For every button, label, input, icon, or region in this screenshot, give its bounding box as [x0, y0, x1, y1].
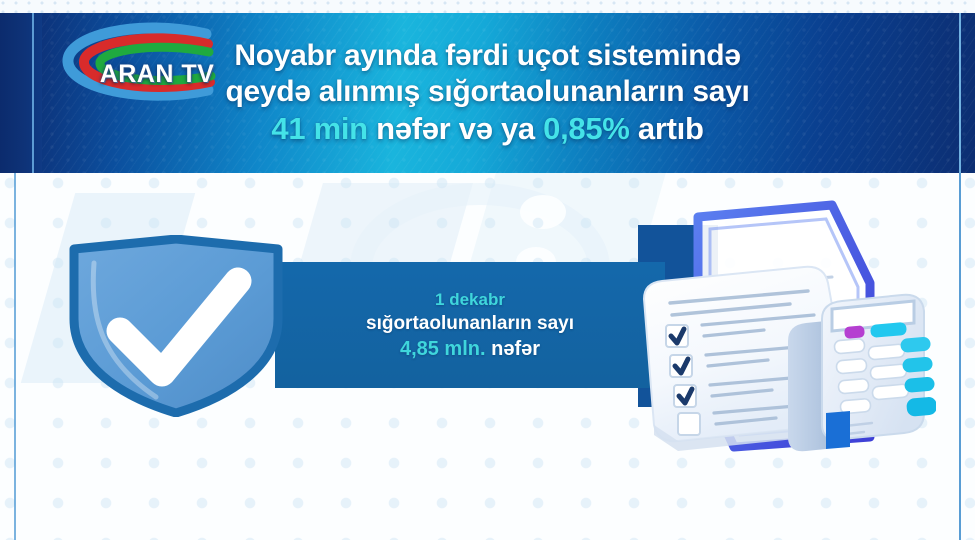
aran-tv-logo-text: ARAN TV — [82, 60, 232, 89]
infographic-canvas: Noyabr ayında fərdi uçot sistemində qeyd… — [0, 0, 975, 540]
panel-value: 4,85 mln. — [400, 338, 486, 360]
panel-value-unit: nəfər — [491, 338, 540, 360]
aran-tv-logo[interactable]: ARAN TV — [58, 22, 236, 102]
document-illustration — [636, 199, 936, 469]
shield-check-icon — [60, 235, 292, 417]
header-vertical-line-right — [959, 13, 961, 173]
panel-value-row: 4,85 mln. nəfər — [400, 338, 540, 361]
header-left-band — [0, 13, 42, 173]
top-decorative-strip — [0, 0, 975, 13]
body-vertical-line-right — [959, 173, 961, 540]
statistic-panel: 1 dekabr sığortaolunanların sayı 4,85 ml… — [275, 262, 665, 388]
calc-key-magenta — [844, 325, 865, 339]
panel-date-label: 1 dekabr — [435, 290, 505, 310]
header-vertical-line-left — [32, 13, 34, 173]
body-area: 1 dekabr sığortaolunanların sayı 4,85 ml… — [0, 173, 975, 540]
panel-description: sığortaolunanların sayı — [366, 313, 574, 335]
shield-check-graphic — [60, 235, 292, 417]
body-vertical-line-left — [14, 173, 16, 540]
